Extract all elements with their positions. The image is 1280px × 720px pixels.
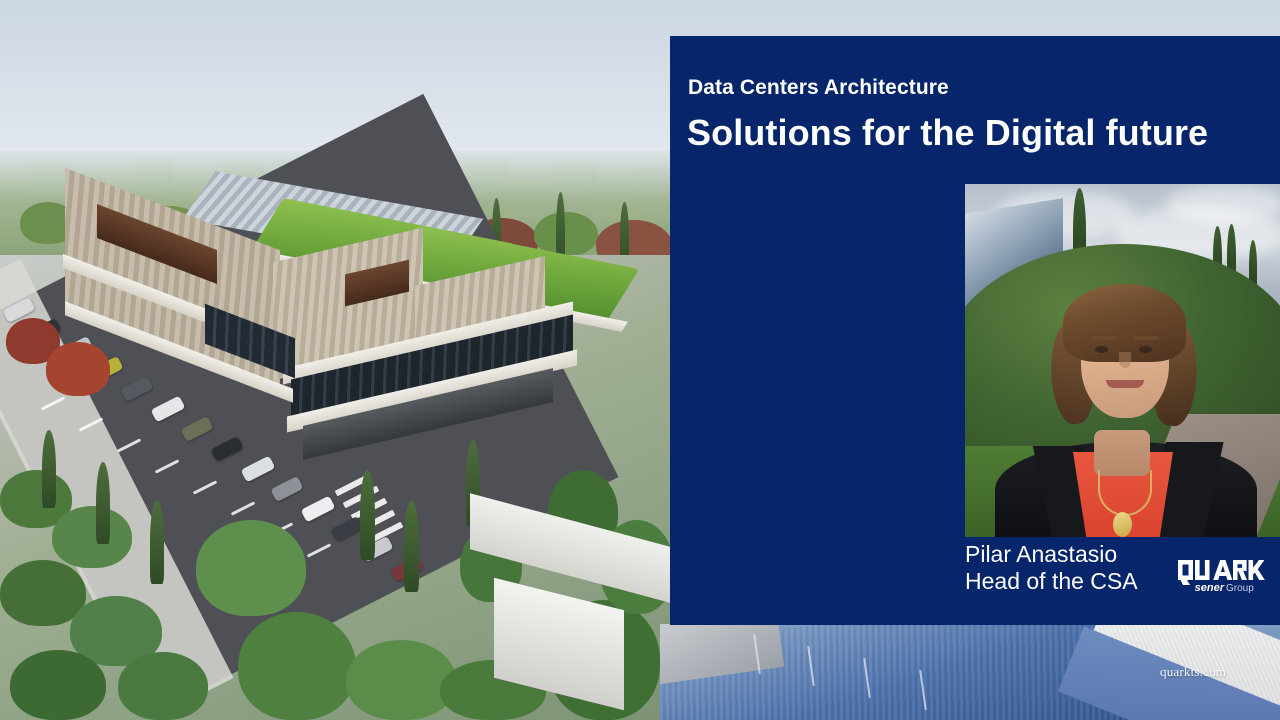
secondary-photo-blue-roof: quarkts.com (660, 624, 1280, 720)
speaker-name: Pilar Anastasio (965, 541, 1117, 568)
cypress-tree (150, 500, 164, 584)
speaker-role: Head of the CSA (965, 568, 1138, 595)
presentation-slide: quarkts.com Data Centers Architecture So… (0, 0, 1280, 720)
main-building (55, 185, 675, 435)
tree (10, 650, 106, 720)
tree (46, 342, 110, 396)
cypress-tree (42, 430, 56, 508)
cypress-tree (96, 462, 110, 544)
nose (1119, 352, 1131, 368)
tree (238, 612, 356, 720)
watermark-text: quarkts.com (1160, 664, 1226, 680)
speaker-portrait-photo (965, 184, 1280, 537)
mouth (1106, 380, 1144, 388)
slide-eyebrow: Data Centers Architecture (688, 76, 949, 100)
quark-sener-group-logo[interactable]: sener Group (1176, 559, 1272, 597)
logo-sub-secondary: Group (1226, 583, 1254, 594)
cypress-tree (404, 500, 419, 592)
tree (346, 640, 456, 720)
slide-headline: Solutions for the Digital future (687, 112, 1208, 154)
necklace-pendant (1113, 512, 1132, 537)
tree (52, 506, 132, 568)
tree (196, 520, 306, 616)
cypress-tree (360, 470, 375, 560)
logo-sub-primary: sener (1195, 582, 1225, 594)
tree (118, 652, 208, 720)
hair-top (1063, 284, 1186, 362)
